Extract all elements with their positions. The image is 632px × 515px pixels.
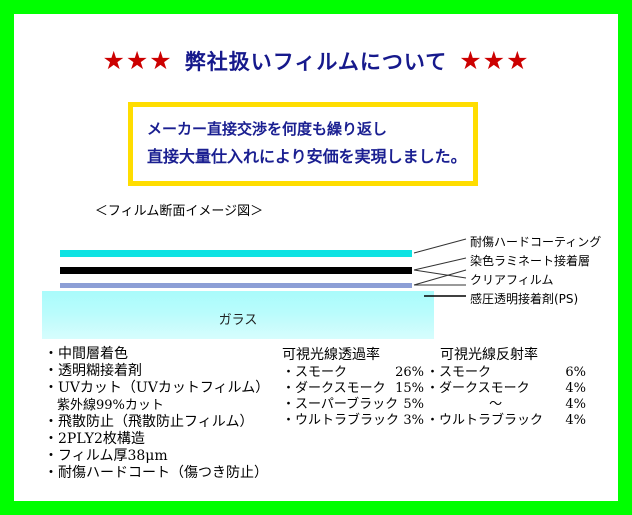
spec-value: 4% [565, 413, 586, 429]
spec-name: ・スーパーブラック [282, 397, 398, 413]
spec-value: 6% [565, 365, 586, 381]
feature-list: ・中間層着色 ・透明糊接着剤 ・UVカット（UVカットフィルム） 紫外線99%カ… [44, 346, 306, 482]
spec-value: 4% [565, 397, 586, 413]
page-frame: ★★★弊社扱いフィルムについて★★★ メーカー直接交渉を何度も繰り返し 直接大量… [0, 0, 632, 515]
table-row: ・スモーク 26% [282, 365, 424, 381]
reflectance-table: 可視光線反射率 ・スモーク 6% ・ダークスモーク 4% 〜 4% ・ウルトラブ… [426, 346, 608, 429]
spec-name: ・ダークスモーク [282, 381, 386, 397]
highlight-callout-box: メーカー直接交渉を何度も繰り返し 直接大量仕入れにより安価を実現しました。 [128, 102, 478, 186]
page-title-text: 弊社扱いフィルムについて [185, 49, 448, 74]
spec-name: ・スモーク [426, 365, 491, 381]
layer-label-list: 耐傷ハードコーティング 染色ラミネート接着層 クリアフィルム 感圧透明接着剤(P… [470, 233, 618, 309]
layer-label-clear-film: クリアフィルム [470, 271, 618, 290]
document-body: ★★★弊社扱いフィルムについて★★★ メーカー直接交渉を何度も繰り返し 直接大量… [14, 14, 618, 501]
reflectance-heading: 可視光線反射率 [426, 346, 608, 365]
star-decoration-left: ★★★ [102, 47, 172, 75]
list-item: ・耐傷ハードコート（傷つき防止） [44, 465, 306, 482]
spec-name: ・ウルトラブラック [282, 413, 399, 429]
layer-label-ps-adhesive: 感圧透明接着剤(PS) [470, 290, 618, 309]
cross-section-caption: ＜フィルム断面イメージ図＞ [14, 200, 344, 219]
spec-value: 15% [395, 381, 424, 397]
list-item: ・飛散防止（飛散防止フィルム） [44, 414, 306, 431]
layer-label-hardcoat: 耐傷ハードコーティング [470, 233, 618, 252]
callout-line-2: 直接大量仕入れにより安価を実現しました。 [147, 143, 459, 170]
spec-value: 4% [565, 381, 586, 397]
spec-name: ・ダークスモーク [426, 381, 530, 397]
table-row: ・ウルトラブラック 4% [426, 413, 586, 429]
spec-name: ・ウルトラブラック [426, 413, 543, 429]
table-row: ・スーパーブラック 5% [282, 397, 424, 413]
layer-label-dyed-laminate: 染色ラミネート接着層 [470, 252, 618, 271]
spec-value: 3% [403, 413, 424, 429]
page-title: ★★★弊社扱いフィルムについて★★★ [14, 46, 618, 76]
table-row: ・スモーク 6% [426, 365, 586, 381]
spec-value: 5% [403, 397, 424, 413]
transmittance-table: 可視光線透過率 ・スモーク 26% ・ダークスモーク 15% ・スーパーブラック… [282, 346, 432, 429]
list-item: ・透明糊接着剤 [44, 363, 306, 380]
spec-name: 〜 [426, 397, 565, 413]
table-row: ・ダークスモーク 4% [426, 381, 586, 397]
star-decoration-right: ★★★ [459, 47, 529, 75]
table-row: 〜 4% [426, 397, 586, 413]
film-cross-section-diagram: ガラス 耐傷ハードコーティング 染色ラミネート接着層 [14, 222, 618, 342]
list-item: 紫外線99%カット [44, 397, 306, 414]
callout-line-1: メーカー直接交渉を何度も繰り返し [147, 116, 459, 143]
list-item: ・UVカット（UVカットフィルム） [44, 380, 306, 397]
list-item: ・フィルム厚38μm [44, 448, 306, 465]
spec-name: ・スモーク [282, 365, 347, 381]
spec-value: 26% [395, 365, 424, 381]
specs-section: ・中間層着色 ・透明糊接着剤 ・UVカット（UVカットフィルム） 紫外線99%カ… [14, 346, 618, 501]
table-row: ・ダークスモーク 15% [282, 381, 424, 397]
list-item: ・2PLY2枚構造 [44, 431, 306, 448]
list-item: ・中間層着色 [44, 346, 306, 363]
table-row: ・ウルトラブラック 3% [282, 413, 424, 429]
transmittance-heading: 可視光線透過率 [282, 346, 432, 365]
